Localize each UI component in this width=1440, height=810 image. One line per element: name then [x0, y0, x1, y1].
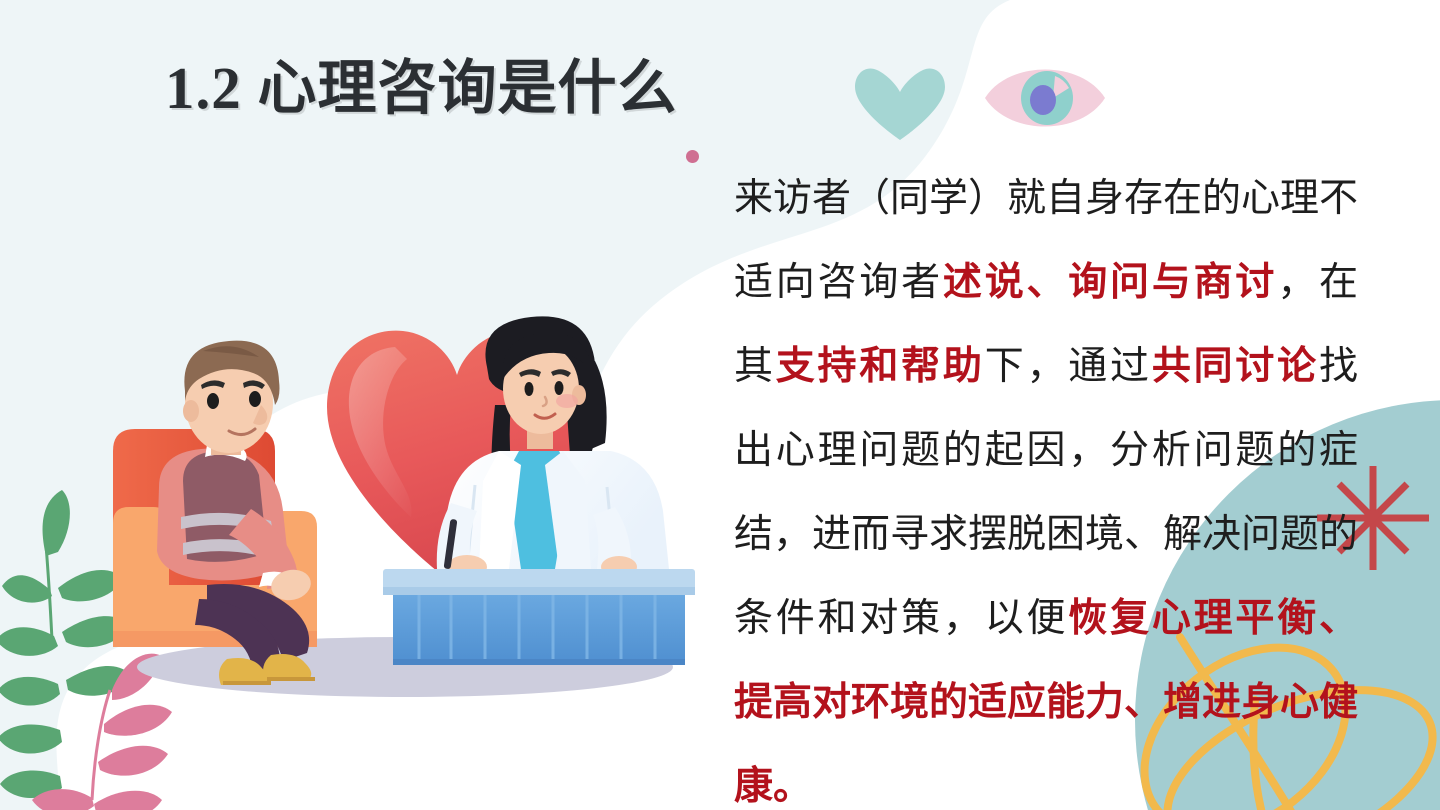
body-plain-span: 找出心理问题的起因，分析问题的症结，进而寻求摆脱困境、解决问题的条件和对策，以便: [734, 345, 1358, 640]
desk-graphic: [383, 569, 695, 665]
counselor-eye-left: [525, 382, 534, 396]
client-eye-right: [249, 391, 261, 407]
desk-front: [393, 595, 685, 665]
body-highlight-span: 支持和帮助: [776, 345, 985, 388]
slide-root: 1.2 心理咨询是什么 来访者（同学）就自身存在的心理不适向咨询者述说、询问与商…: [0, 0, 1440, 810]
counselor-blush: [556, 394, 578, 408]
client-eye-left: [207, 393, 219, 409]
eye-pupil: [1030, 85, 1056, 115]
counseling-session-illustration: [95, 255, 715, 715]
page-title: 1.2 心理咨询是什么: [165, 40, 678, 125]
counselor-eye-right: [555, 381, 564, 395]
body-paragraph: 来访者（同学）就自身存在的心理不适向咨询者述说、询问与商讨，在其支持和帮助下，通…: [734, 157, 1358, 810]
body-plain-span: 下，通过: [985, 345, 1152, 388]
bullet-dot-icon: [686, 150, 699, 163]
body-text-block: 来访者（同学）就自身存在的心理不适向咨询者述说、询问与商讨，在其支持和帮助下，通…: [686, 118, 1358, 810]
body-highlight-span: 述说、询问与商讨: [943, 261, 1277, 304]
body-highlight-span: 共同讨论: [1152, 345, 1319, 388]
